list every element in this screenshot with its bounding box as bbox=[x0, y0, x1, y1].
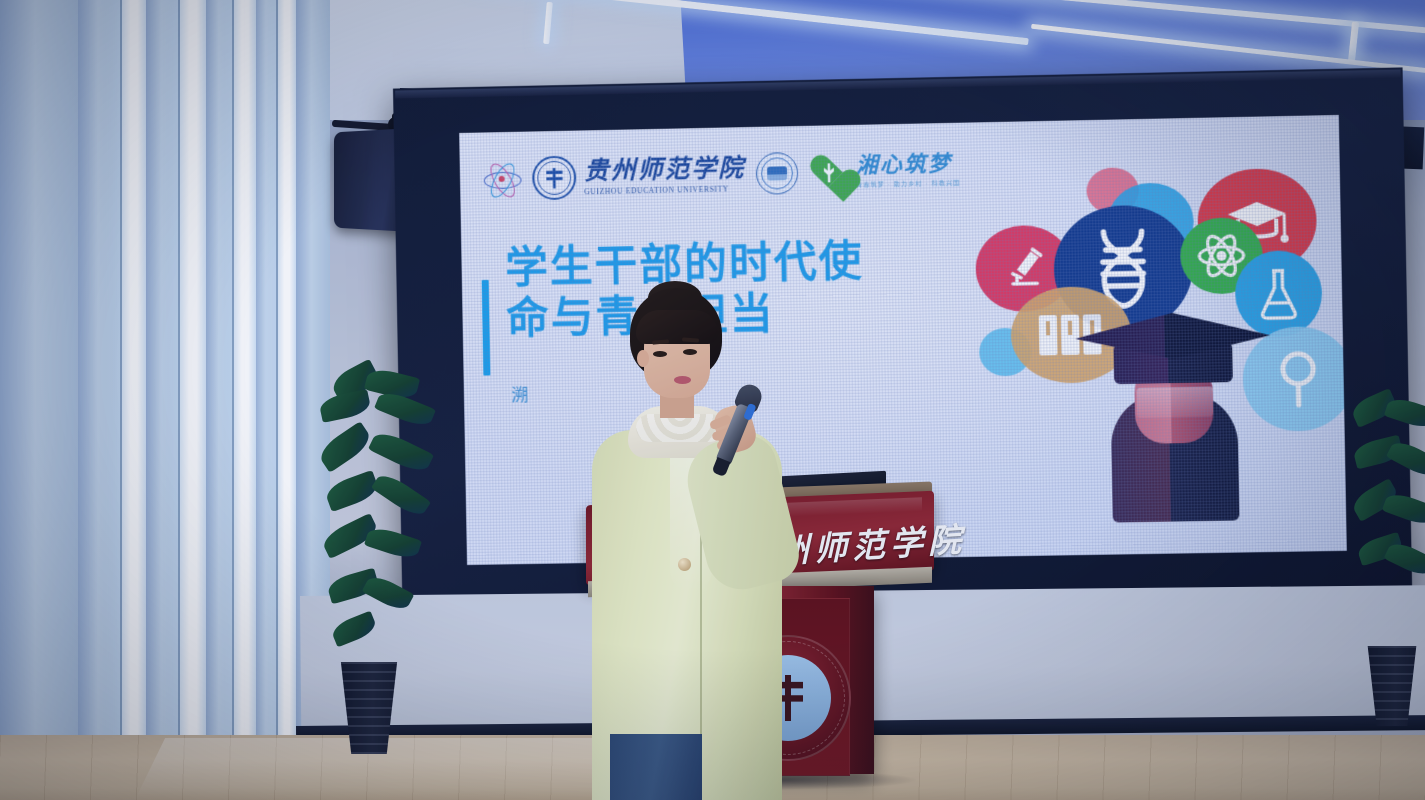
plant-leaf bbox=[368, 428, 434, 477]
title-line-1: 学生干部的时代使 bbox=[505, 235, 974, 295]
heart-tree-logo: 湘心筑梦 青春筑梦 · 助力乡村 · 科教兴国 bbox=[809, 152, 961, 191]
panel-seam bbox=[178, 0, 180, 800]
plant-pot bbox=[1360, 646, 1424, 726]
plant-leaf bbox=[315, 421, 374, 473]
plant-leaf bbox=[323, 470, 381, 512]
wall-panel bbox=[206, 0, 234, 800]
wall-panel bbox=[256, 0, 278, 800]
heart-logo-subtitle: 青春筑梦 · 助力乡村 · 科教兴国 bbox=[856, 178, 960, 189]
speaker-eye bbox=[683, 349, 697, 355]
graduate-with-science-bubbles bbox=[956, 157, 1333, 537]
plant-leaf bbox=[362, 572, 415, 614]
round-seal-emblem-icon bbox=[756, 152, 799, 195]
speaker-ear bbox=[637, 350, 649, 367]
illuminated-wall-panels bbox=[0, 0, 330, 800]
light-panel bbox=[180, 0, 206, 800]
plant-leaf bbox=[364, 524, 422, 562]
title-accent-bar bbox=[482, 280, 491, 376]
university-name-en: GUIZHOU EDUCATION UNIVERSITY bbox=[584, 184, 745, 196]
panel-seam bbox=[276, 0, 278, 800]
light-panel bbox=[278, 0, 296, 800]
lecture-hall-photo: 贵州师范学院 GUIZHOU EDUCATION UNIVERSITY 湘心筑梦… bbox=[0, 0, 1425, 800]
potted-plant-right bbox=[1352, 396, 1425, 726]
speaker-mouth bbox=[674, 376, 691, 384]
plant-leaf bbox=[1384, 395, 1425, 431]
speaker-eye bbox=[653, 351, 667, 357]
wall-panel bbox=[146, 0, 180, 800]
student-speaker bbox=[574, 288, 804, 800]
slide-subtitle: 溯 bbox=[511, 381, 531, 406]
panel-seam bbox=[120, 0, 122, 800]
wall-panel bbox=[0, 0, 78, 800]
plant-pot bbox=[332, 662, 406, 754]
speaker-trousers bbox=[610, 734, 702, 800]
potted-plant-left bbox=[318, 368, 438, 754]
plant-leaf bbox=[329, 611, 378, 648]
heart-logo-title: 湘心筑梦 bbox=[856, 153, 961, 177]
university-name-cn: 贵州师范学院 bbox=[584, 156, 746, 184]
atom-decoration-icon bbox=[481, 161, 521, 198]
plant-leaf bbox=[371, 470, 431, 521]
coat-button bbox=[678, 558, 691, 571]
university-seal-icon bbox=[532, 156, 576, 201]
wall-panel bbox=[78, 0, 122, 800]
light-panel bbox=[234, 0, 256, 800]
graduate-silhouette bbox=[1077, 299, 1272, 523]
light-panel bbox=[122, 0, 146, 800]
mortarboard-icon bbox=[1075, 311, 1271, 361]
plant-leaf bbox=[1382, 490, 1425, 528]
guizhou-education-university-logo: 贵州师范学院 GUIZHOU EDUCATION UNIVERSITY bbox=[532, 152, 746, 200]
hair-fringe bbox=[636, 310, 718, 344]
plant-leaf bbox=[318, 389, 372, 423]
heart-tree-icon bbox=[809, 154, 850, 191]
panel-seam bbox=[232, 0, 234, 800]
graduate-face-highlight bbox=[1136, 386, 1213, 417]
